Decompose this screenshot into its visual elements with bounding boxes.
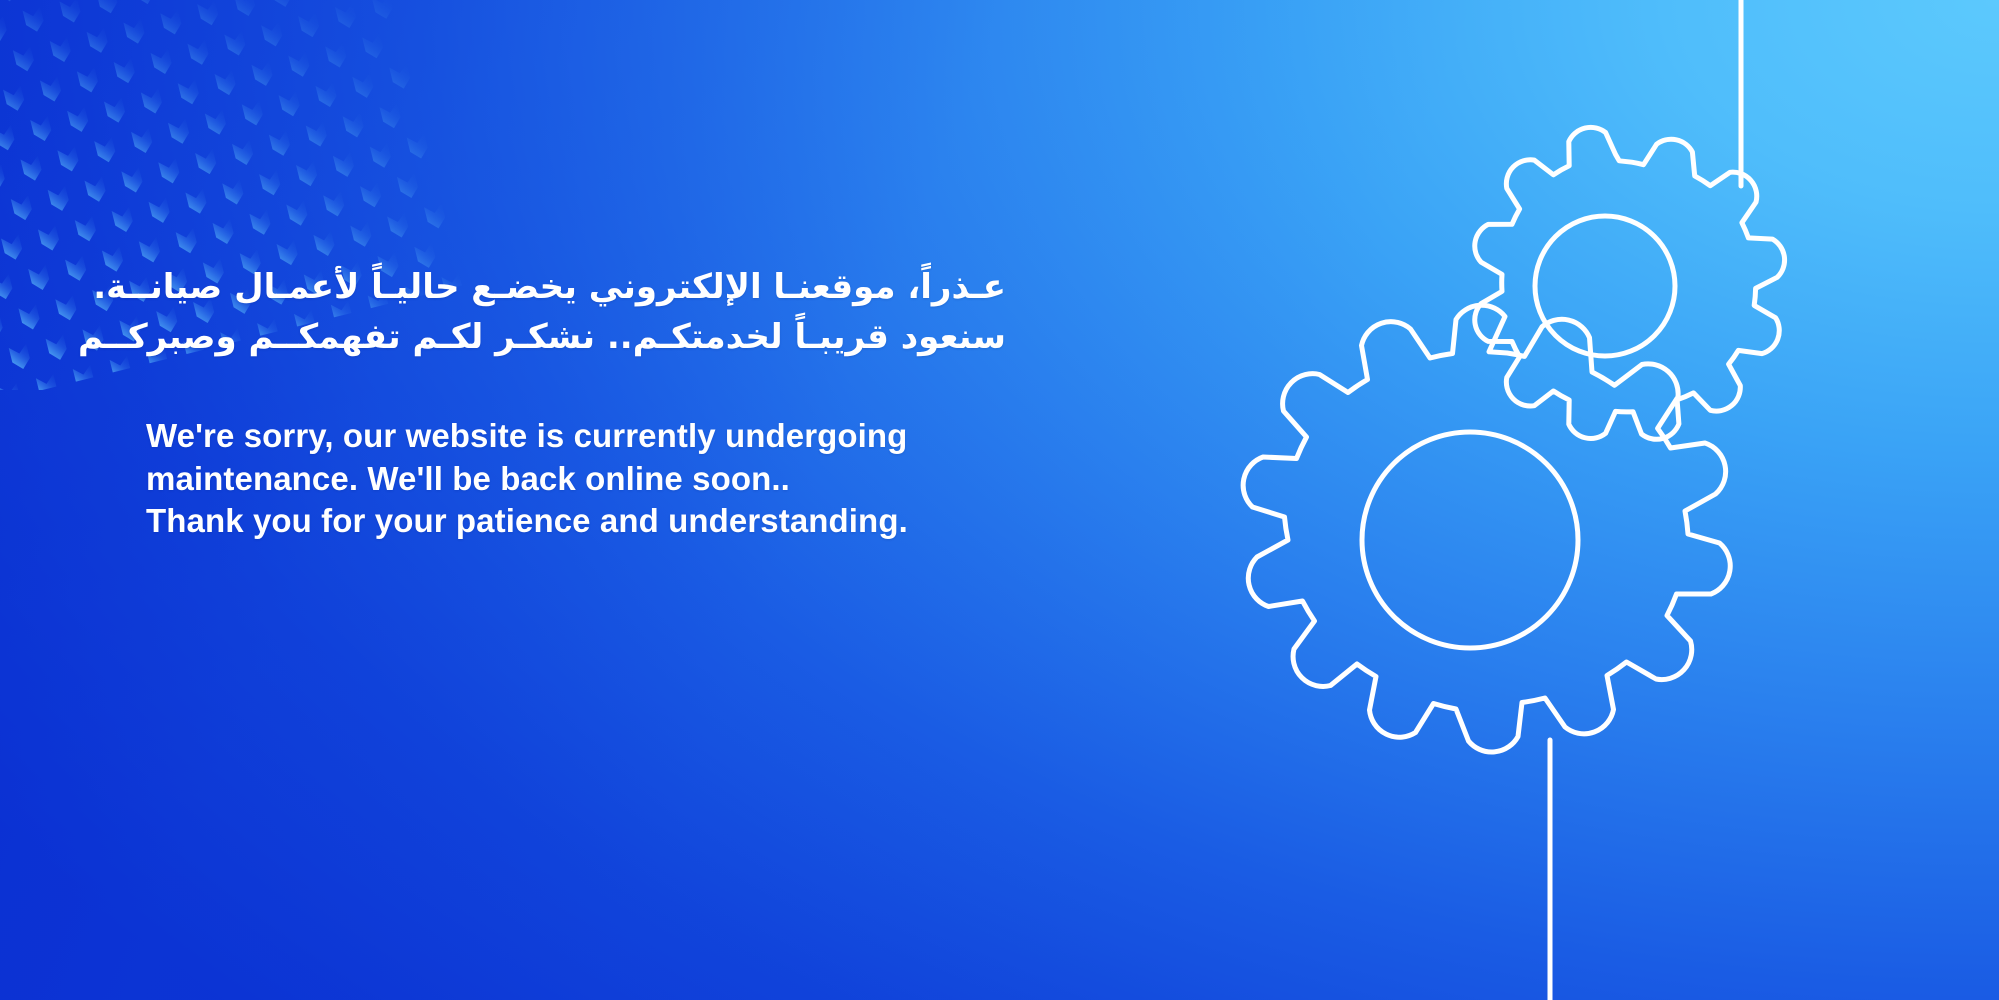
message-content: عـذراً، موقعنـا الإلكتروني يخضـع حاليـاً… [146,262,1006,543]
english-line-2: maintenance. We'll be back online soon.. [146,458,1006,501]
maintenance-page: عـذراً، موقعنـا الإلكتروني يخضـع حاليـاً… [0,0,1999,1000]
english-message: We're sorry, our website is currently un… [146,415,1006,544]
arabic-line-2: سنعود قريبـاً لخدمتكـم.. نشكـر لكـم تفهم… [146,312,1006,362]
english-line-1: We're sorry, our website is currently un… [146,415,1006,458]
arabic-message: عـذراً، موقعنـا الإلكتروني يخضـع حاليـاً… [146,262,1006,363]
arabic-line-1: عـذراً، موقعنـا الإلكتروني يخضـع حاليـاً… [146,262,1006,312]
english-line-3: Thank you for your patience and understa… [146,500,1006,543]
